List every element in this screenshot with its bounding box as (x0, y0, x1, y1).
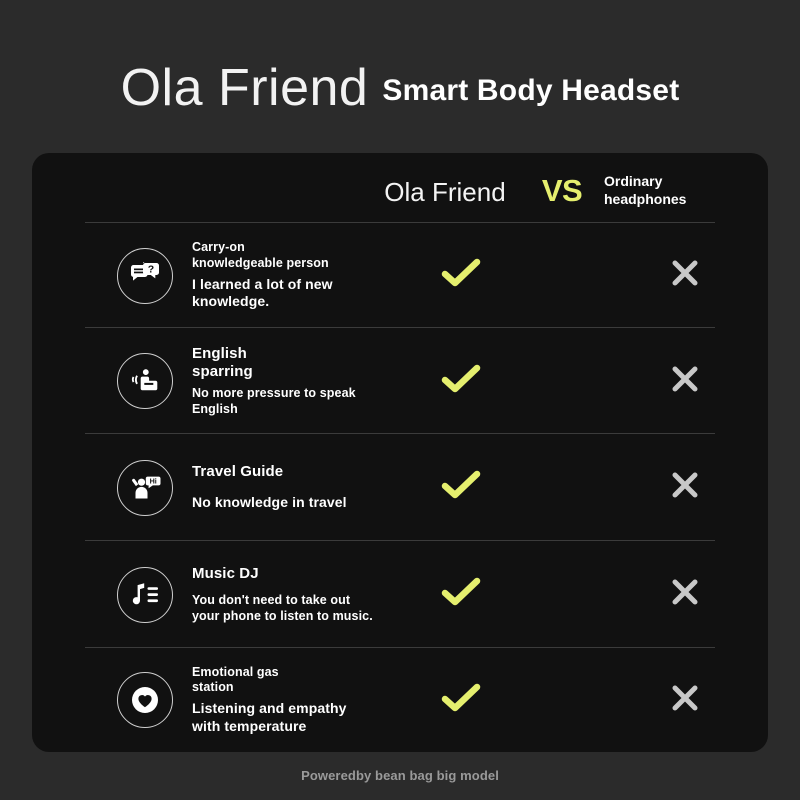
feature-title: Emotional gas station (192, 665, 402, 696)
feature-desc: You don't need to take out your phone to… (192, 593, 402, 624)
table-row: Music DJ You don't need to take out your… (32, 541, 768, 648)
feature-text: Music DJ You don't need to take out your… (192, 565, 402, 624)
speaking-head-icon (117, 353, 173, 409)
chat-question-icon: ? (117, 248, 173, 304)
product-check-icon (436, 576, 486, 613)
product-check-icon (436, 682, 486, 719)
ordinary-cross-icon (660, 683, 710, 718)
table-row: English sparring No more pressure to spe… (32, 328, 768, 434)
feature-desc-line1: Listening and empathy (192, 700, 402, 717)
feature-desc-line1: No knowledge in travel (192, 494, 402, 511)
svg-text:?: ? (148, 263, 154, 275)
product-check-icon (436, 257, 486, 294)
feature-text: Travel Guide No knowledge in travel (192, 463, 402, 512)
feature-title: Carry-on knowledgeable person (192, 240, 402, 271)
table-row: ? Carry-on knowledgeable person I learne… (32, 223, 768, 328)
feature-text: Carry-on knowledgeable person I learned … (192, 240, 402, 310)
feature-title-line2: knowledgeable person (192, 256, 402, 271)
feature-desc-line2: knowledge. (192, 293, 402, 310)
feature-desc-line1: I learned a lot of new (192, 276, 402, 293)
feature-desc: No knowledge in travel (192, 494, 402, 511)
person-wave-hi-icon: Hi (117, 460, 173, 516)
column-header-ordinary: Ordinary headphones (604, 173, 749, 209)
feature-desc-line1: You don't need to take out (192, 593, 402, 609)
product-check-icon (436, 469, 486, 506)
page-title-tagline: Smart Body Headset (382, 74, 679, 107)
comparison-header: Ola Friend VS Ordinary headphones (32, 153, 768, 222)
feature-desc: Listening and empathy with temperature (192, 700, 402, 735)
table-row: Emotional gas station Listening and empa… (32, 648, 768, 752)
comparison-card: Ola Friend VS Ordinary headphones ? (32, 153, 768, 752)
feature-title-line2: sparring (192, 363, 402, 381)
feature-title-line1: Carry-on (192, 240, 402, 255)
footer-caption: Poweredby bean bag big model (0, 768, 800, 783)
feature-desc-line2: with temperature (192, 718, 402, 735)
column-header-vs: VS (522, 173, 602, 209)
feature-title: English sparring (192, 345, 402, 382)
column-header-product: Ola Friend (360, 177, 530, 208)
ordinary-cross-icon (660, 577, 710, 612)
heart-circle-icon (117, 672, 173, 728)
ordinary-cross-icon (660, 258, 710, 293)
feature-title-line1: Travel Guide (192, 463, 402, 481)
product-check-icon (436, 363, 486, 400)
feature-title-line2: station (192, 680, 402, 695)
music-playlist-icon (117, 567, 173, 623)
feature-desc-line1: No more pressure to speak (192, 386, 402, 402)
feature-desc: No more pressure to speak English (192, 386, 402, 417)
feature-title-line1: Music DJ (192, 565, 402, 583)
feature-title-line1: English (192, 345, 402, 363)
feature-text: Emotional gas station Listening and empa… (192, 665, 402, 735)
page-title: Ola FriendSmart Body Headset (0, 62, 800, 114)
ordinary-cross-icon (660, 364, 710, 399)
feature-desc-line2: English (192, 402, 402, 418)
column-header-ordinary-line1: Ordinary (604, 173, 749, 191)
column-header-ordinary-line2: headphones (604, 191, 749, 209)
feature-text: English sparring No more pressure to spe… (192, 345, 402, 418)
table-row: Hi Travel Guide No knowledge in travel (32, 434, 768, 541)
svg-text:Hi: Hi (150, 476, 157, 485)
page-title-product: Ola Friend (121, 59, 369, 117)
feature-desc: I learned a lot of new knowledge. (192, 276, 402, 311)
feature-title: Travel Guide (192, 463, 402, 481)
feature-title: Music DJ (192, 565, 402, 583)
feature-rows: ? Carry-on knowledgeable person I learne… (32, 223, 768, 752)
feature-desc-line2: your phone to listen to music. (192, 609, 402, 625)
ordinary-cross-icon (660, 470, 710, 505)
feature-title-line1: Emotional gas (192, 665, 402, 680)
